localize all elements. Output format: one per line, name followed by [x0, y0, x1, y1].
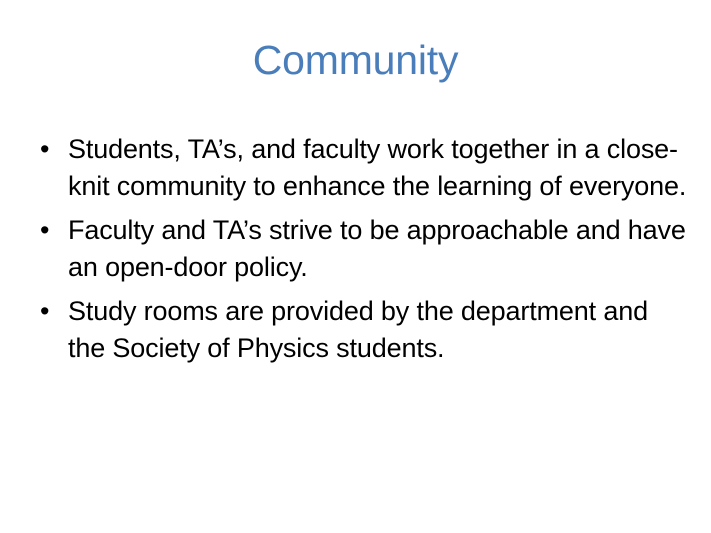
list-item-text: Study rooms are provided by the departme…: [68, 293, 688, 367]
bullet-point-icon: •: [33, 212, 68, 249]
page-title: Community: [0, 36, 711, 84]
list-item-text: Students, TA’s, and faculty work togethe…: [68, 131, 688, 205]
list-item-text: Faculty and TA’s strive to be approachab…: [68, 212, 688, 286]
bullet-point-icon: •: [33, 293, 68, 330]
list-item: • Faculty and TA’s strive to be approach…: [33, 212, 688, 286]
list-item: • Study rooms are provided by the depart…: [33, 293, 688, 367]
bullet-point-icon: •: [33, 131, 68, 168]
slide-body-content: • Students, TA’s, and faculty work toget…: [33, 131, 688, 367]
presentation-slide: Community • Students, TA’s, and faculty …: [0, 0, 711, 533]
list-item: • Students, TA’s, and faculty work toget…: [33, 131, 688, 205]
